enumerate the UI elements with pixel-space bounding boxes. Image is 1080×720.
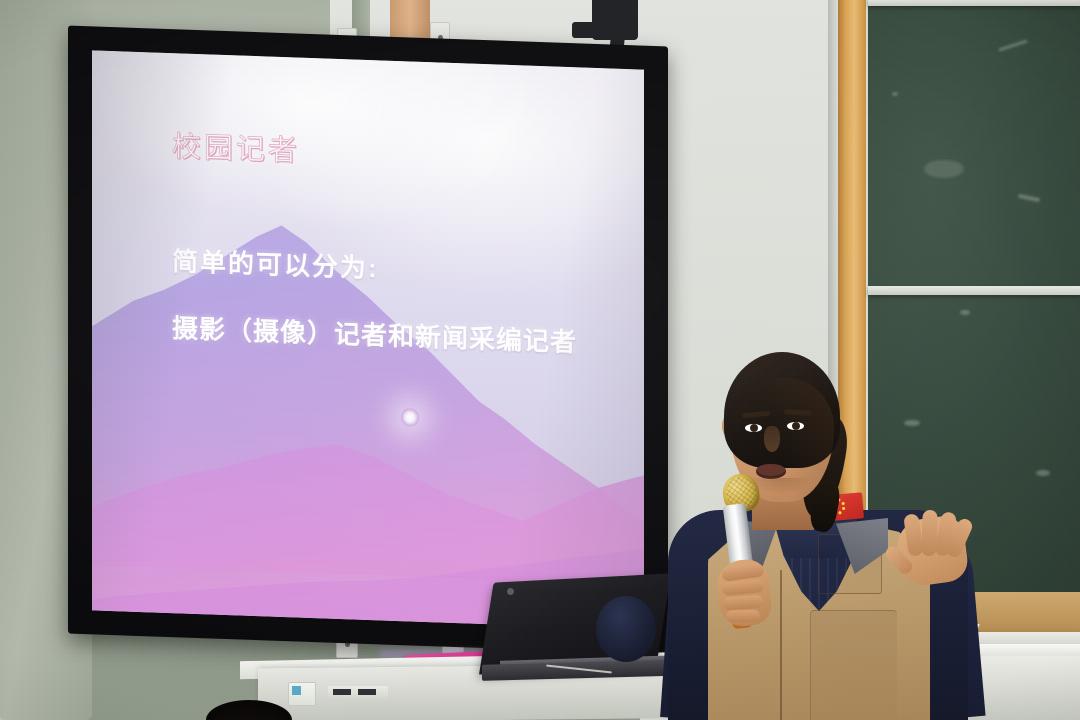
finger [726,609,760,622]
presenter-elbow-foreground [596,596,656,662]
presenter-eye-left [745,424,762,432]
vest-pocket-lower [810,610,897,720]
presenter-mouth [756,464,786,479]
chalkboard-rail-middle [868,286,1080,295]
slide-vignette [92,50,644,629]
projection-screen: 校园记者 简单的可以分为: 摄影（摄像）记者和新闻采编记者 [68,26,668,655]
presenter-nose [764,426,780,452]
speaker-box [572,22,596,38]
finger [921,510,938,556]
podium-control-strip [328,686,388,698]
photo-scene: 校园记者 简单的可以分为: 摄影（摄像）记者和新闻采编记者 [0,0,1080,720]
finger [723,595,764,611]
chalkboard-rail-top [868,0,1080,6]
laptop-logo [507,588,514,595]
presenter-eye-right [787,422,804,430]
vest-zipper [780,570,782,720]
presenter [660,352,1000,720]
screen-surface: 校园记者 简单的可以分为: 摄影（摄像）记者和新闻采编记者 [92,50,644,629]
podium-sticker [288,682,316,706]
projected-slide: 校园记者 简单的可以分为: 摄影（摄像）记者和新闻采编记者 [92,50,644,629]
